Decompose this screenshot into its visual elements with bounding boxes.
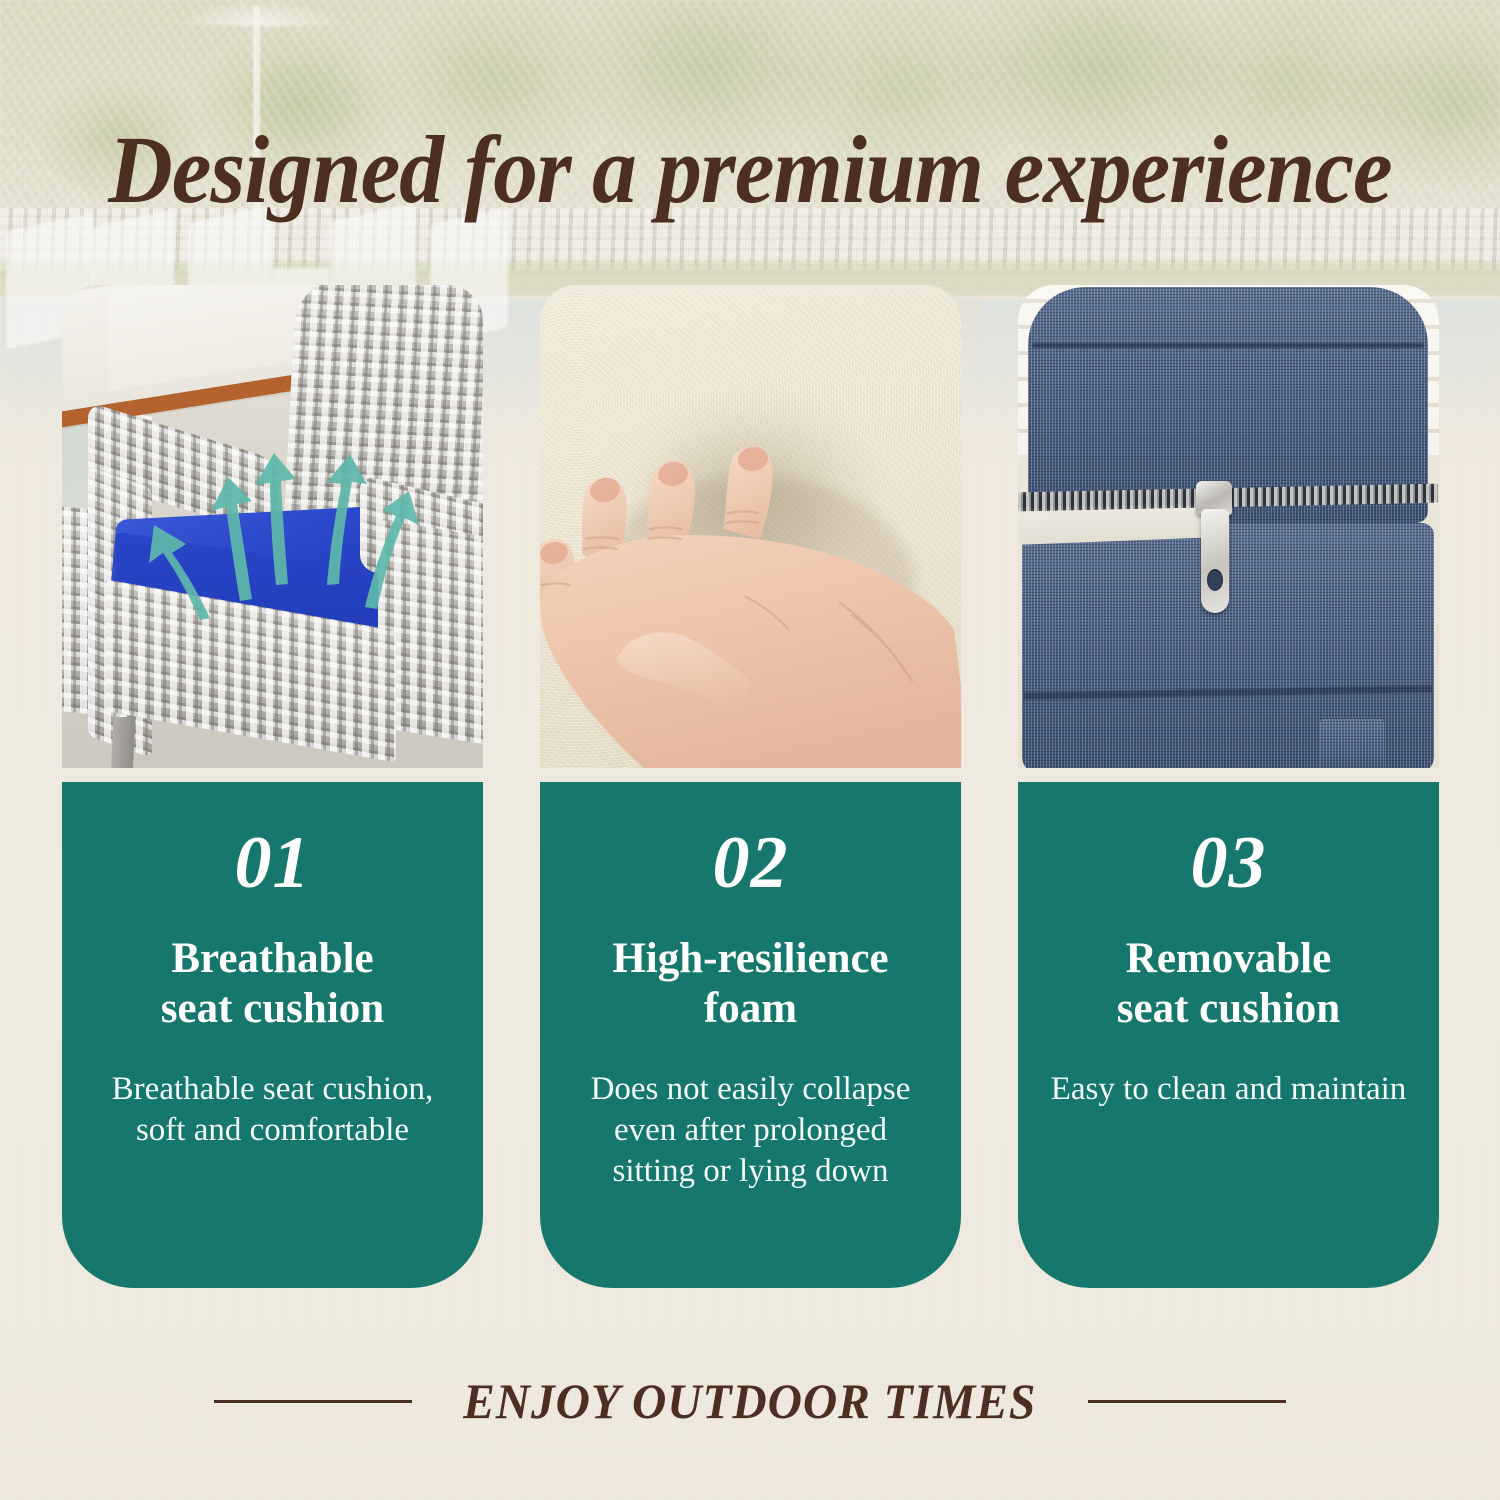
feature-title-line: seat cushion <box>100 984 445 1034</box>
photo-lid-crease <box>1032 343 1424 348</box>
airflow-arrow <box>365 491 419 609</box>
feature-photo-breathable-cushion <box>62 285 483 768</box>
page-title: Designed for a premium experience <box>53 122 1448 218</box>
feature-title-line: Breathable <box>100 934 445 984</box>
photo-fabric-strap <box>1320 719 1384 768</box>
hand-illustration <box>540 285 961 768</box>
feature-panel-02: 02 High-resilience foam Does not easily … <box>540 782 961 1288</box>
photo-panel-gap <box>1018 768 1439 782</box>
feature-photo-removable-cover <box>1018 285 1439 768</box>
photo-zipper-tab-hole <box>1207 569 1223 591</box>
feature-panel-03: 03 Removable seat cushion Easy to clean … <box>1018 782 1439 1288</box>
product-feature-poster: Designed for a premium experience <box>0 0 1500 1500</box>
feature-title-line: High-resilience <box>578 934 923 984</box>
feature-number: 02 <box>564 826 937 900</box>
feature-number: 01 <box>86 826 459 900</box>
feature-title-line: seat cushion <box>1056 984 1401 1034</box>
photo-zipper-pull-tab <box>1201 509 1229 613</box>
airflow-arrow <box>149 525 210 620</box>
footer-text: ENJOY OUTDOOR TIMES <box>463 1372 1036 1430</box>
photo-panel-gap <box>540 768 961 782</box>
airflow-arrow <box>211 477 252 601</box>
feature-description: Breathable seat cushion, soft and comfor… <box>86 1069 459 1152</box>
footer-tagline: ENJOY OUTDOOR TIMES <box>0 1372 1500 1430</box>
airflow-arrow <box>255 453 296 585</box>
feature-card-02: 02 High-resilience foam Does not easily … <box>540 285 961 1288</box>
feature-card-03: 03 Removable seat cushion Easy to clean … <box>1018 285 1439 1288</box>
airflow-arrow-group <box>62 285 483 768</box>
feature-card-grid: 01 Breathable seat cushion Breathable se… <box>62 285 1440 1288</box>
feature-description: Easy to clean and maintain <box>1042 1069 1415 1110</box>
feature-title-line: Removable <box>1056 934 1401 984</box>
footer-rule-left <box>214 1400 412 1403</box>
feature-panel-01: 01 Breathable seat cushion Breathable se… <box>62 782 483 1288</box>
feature-number: 03 <box>1042 826 1415 900</box>
feature-title: Removable seat cushion <box>1042 934 1415 1035</box>
feature-card-01: 01 Breathable seat cushion Breathable se… <box>62 285 483 1288</box>
background-umbrella-canopy <box>178 0 343 26</box>
photo-panel-gap <box>62 768 483 782</box>
feature-title: High-resilience foam <box>564 934 937 1035</box>
feature-title: Breathable seat cushion <box>86 934 459 1035</box>
feature-description: Does not easily collapse even after prol… <box>564 1069 937 1193</box>
feature-photo-high-resilience-foam <box>540 285 961 768</box>
feature-title-line: foam <box>578 984 923 1034</box>
footer-rule-right <box>1088 1400 1286 1403</box>
airflow-arrow <box>327 454 367 585</box>
